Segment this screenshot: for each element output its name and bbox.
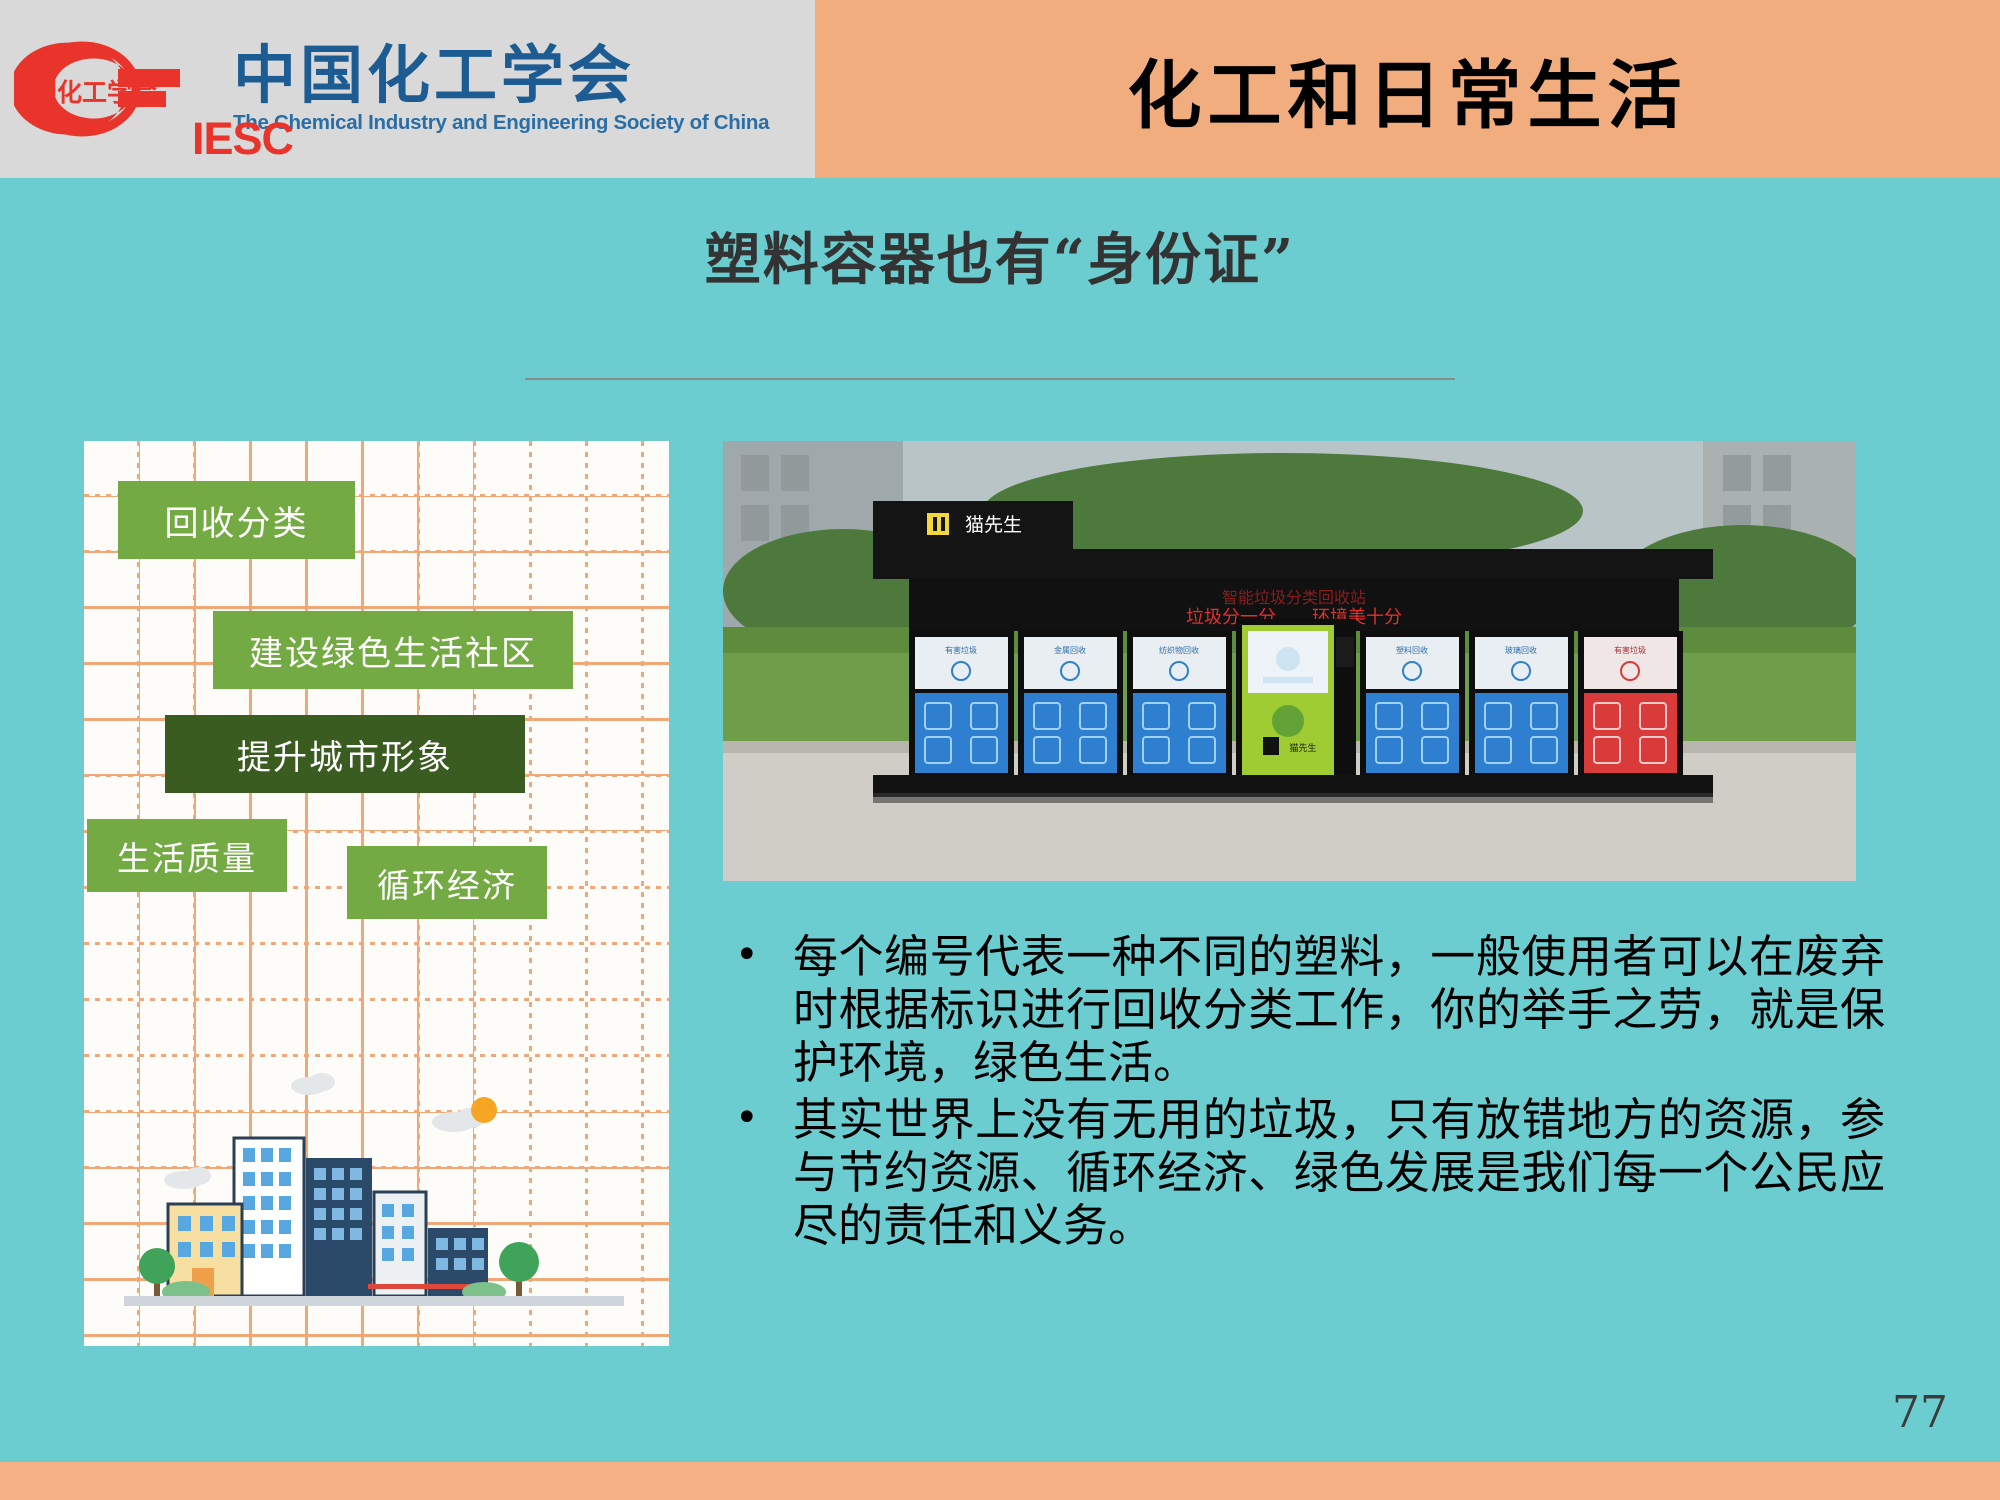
svg-text:玻璃回收: 玻璃回收	[1505, 645, 1537, 655]
slide-canvas: 中国化工学会 IESC 中国化工学会 The Chemical Industry…	[0, 0, 2000, 1500]
tag-recycling-classification: 回收分类	[118, 481, 355, 559]
infographic-panel: 回收分类 建设绿色生活社区 提升城市形象 生活质量 循环经济	[84, 441, 669, 1346]
kiosk-panel: 猫先生	[1236, 619, 1356, 781]
photo-content: 猫先生 智能垃圾分类回收站 垃圾分一分 环境美十分 有害垃圾	[723, 441, 1856, 881]
list-item: • 其实世界上没有无用的垃圾，只有放错地方的资源，参与节约资源、循环经济、绿色发…	[735, 1093, 1885, 1252]
header-title-band: 化工和日常生活	[815, 0, 2000, 178]
tag-city-image: 提升城市形象	[165, 715, 525, 793]
tag-label: 提升城市形象	[237, 730, 453, 779]
tag-label: 循环经济	[377, 859, 517, 907]
page-title: 塑料容器也有“身份证”	[0, 215, 2000, 296]
society-name-cn: 中国化工学会	[233, 43, 769, 109]
station-brand-sign: 猫先生	[919, 507, 1049, 541]
bullet-text: 每个编号代表一种不同的塑料，一般使用者可以在废弃时根据标识进行回收分类工作，你的…	[793, 930, 1885, 1089]
svg-text:有害垃圾: 有害垃圾	[945, 645, 977, 655]
tree-icon	[499, 1242, 539, 1296]
ground-line	[124, 1296, 624, 1306]
svg-text:中国化工学会: 中国化工学会	[14, 78, 157, 107]
tag-label: 生活质量	[117, 832, 257, 880]
page-number: 77	[1892, 1387, 1948, 1438]
tag-label: 建设绿色生活社区	[249, 626, 537, 675]
svg-text:纺织物回收: 纺织物回收	[1159, 645, 1199, 655]
tag-green-community: 建设绿色生活社区	[213, 611, 573, 689]
list-item: • 每个编号代表一种不同的塑料，一般使用者可以在废弃时根据标识进行回收分类工作，…	[735, 930, 1885, 1089]
tag-quality-of-life: 生活质量	[87, 819, 287, 892]
header-logo-band: 中国化工学会 IESC 中国化工学会 The Chemical Industry…	[0, 0, 815, 178]
society-logo-text: 中国化工学会 The Chemical Industry and Enginee…	[233, 43, 769, 134]
title-divider	[525, 378, 1455, 380]
society-abbr: IESC	[192, 113, 293, 165]
bullet-text: 其实世界上没有无用的垃圾，只有放错地方的资源，参与节约资源、循环经济、绿色发展是…	[793, 1093, 1885, 1252]
recycling-station-photo: 猫先生 智能垃圾分类回收站 垃圾分一分 环境美十分 有害垃圾	[723, 441, 1856, 881]
city-skyline-illustration	[124, 1062, 624, 1322]
svg-text:猫先生: 猫先生	[1289, 742, 1316, 754]
svg-text:塑料回收: 塑料回收	[1396, 645, 1428, 655]
tag-circular-economy: 循环经济	[347, 846, 547, 919]
header-title: 化工和日常生活	[1128, 36, 1688, 143]
society-name-en: The Chemical Industry and Engineering So…	[233, 111, 769, 135]
slide-header: 中国化工学会 IESC 中国化工学会 The Chemical Industry…	[0, 0, 2000, 178]
sun-icon	[471, 1097, 497, 1123]
building-small	[374, 1192, 426, 1296]
society-logo-mark: 中国化工学会 IESC	[14, 9, 229, 169]
svg-text:智能垃圾分类回收站: 智能垃圾分类回收站	[1222, 588, 1366, 607]
tag-label: 回收分类	[165, 496, 309, 545]
society-logo: 中国化工学会 IESC 中国化工学会 The Chemical Industry…	[0, 9, 769, 169]
svg-text:有害垃圾: 有害垃圾	[1614, 645, 1646, 655]
bullet-list: • 每个编号代表一种不同的塑料，一般使用者可以在废弃时根据标识进行回收分类工作，…	[735, 930, 1885, 1257]
svg-text:猫先生: 猫先生	[965, 514, 1022, 536]
bullet-marker: •	[735, 930, 793, 980]
bottom-accent-band	[0, 1462, 2000, 1500]
svg-text:金属回收: 金属回收	[1054, 645, 1086, 655]
bullet-marker: •	[735, 1093, 793, 1143]
